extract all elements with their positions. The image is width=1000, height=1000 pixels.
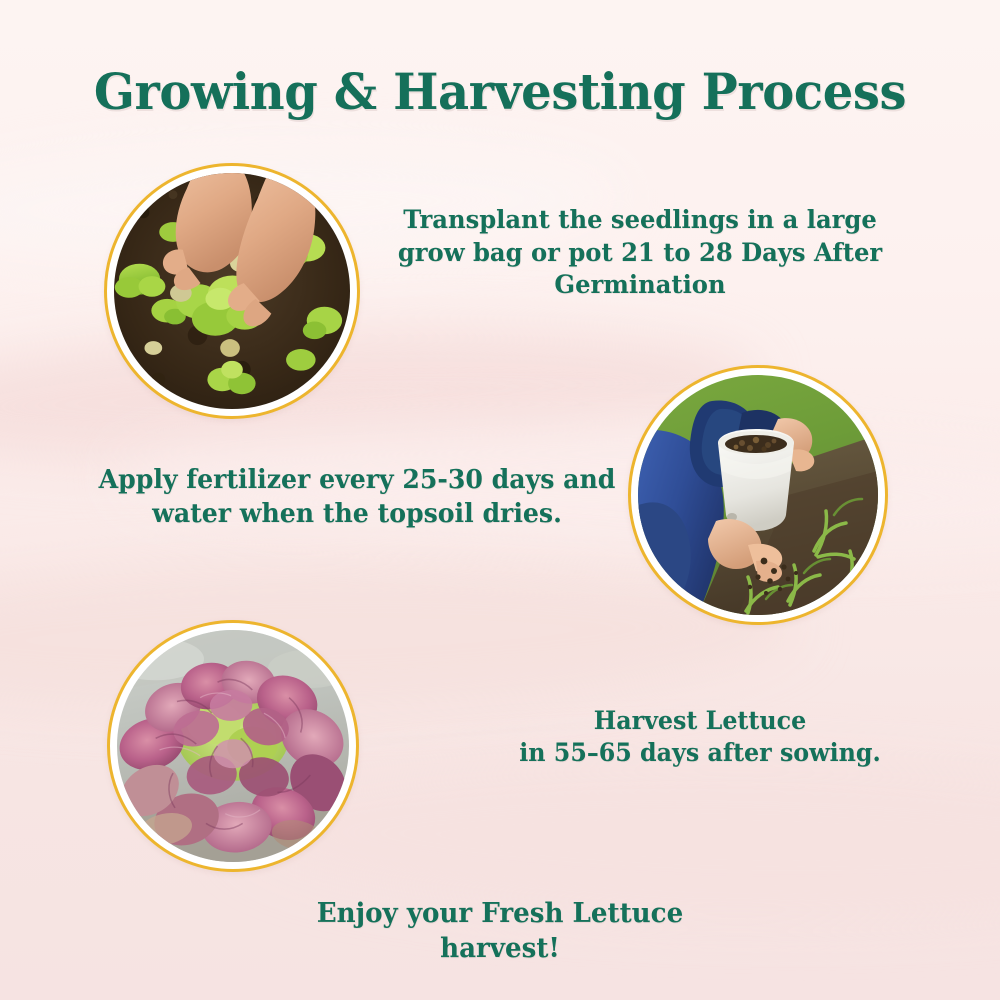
caption-fertilize: Apply fertilizer every 25-30 days and wa…	[86, 463, 628, 531]
page-title: Growing & Harvesting Process	[20, 62, 980, 121]
caption-line: Apply fertilizer every 25-30 days and	[86, 463, 628, 497]
photo-fertilizer	[628, 365, 888, 625]
infographic-poster: Growing & Harvesting Process	[0, 0, 1000, 1000]
caption-line: water when the topsoil dries.	[86, 497, 628, 531]
photo-fertilizer-image	[638, 375, 878, 615]
photo-harvest	[107, 620, 359, 872]
caption-line: Harvest Lettuce	[463, 705, 938, 737]
photo-seedlings	[104, 163, 360, 419]
caption-line: Transplant the seedlings in a large	[395, 204, 885, 237]
caption-line: in 55–65 days after sowing.	[463, 737, 938, 769]
photo-seedlings-image	[114, 173, 350, 409]
footer-line: Enjoy your Fresh Lettuce	[225, 896, 776, 931]
footer-line: harvest!	[225, 931, 776, 966]
caption-line: Germination	[395, 269, 885, 302]
caption-line: grow bag or pot 21 to 28 Days After	[395, 237, 885, 270]
footer-message: Enjoy your Fresh Lettuce harvest!	[225, 896, 776, 966]
photo-harvest-image	[117, 630, 349, 862]
caption-harvest: Harvest Lettuce in 55–65 days after sowi…	[463, 705, 938, 769]
caption-transplant: Transplant the seedlings in a large grow…	[395, 204, 885, 302]
